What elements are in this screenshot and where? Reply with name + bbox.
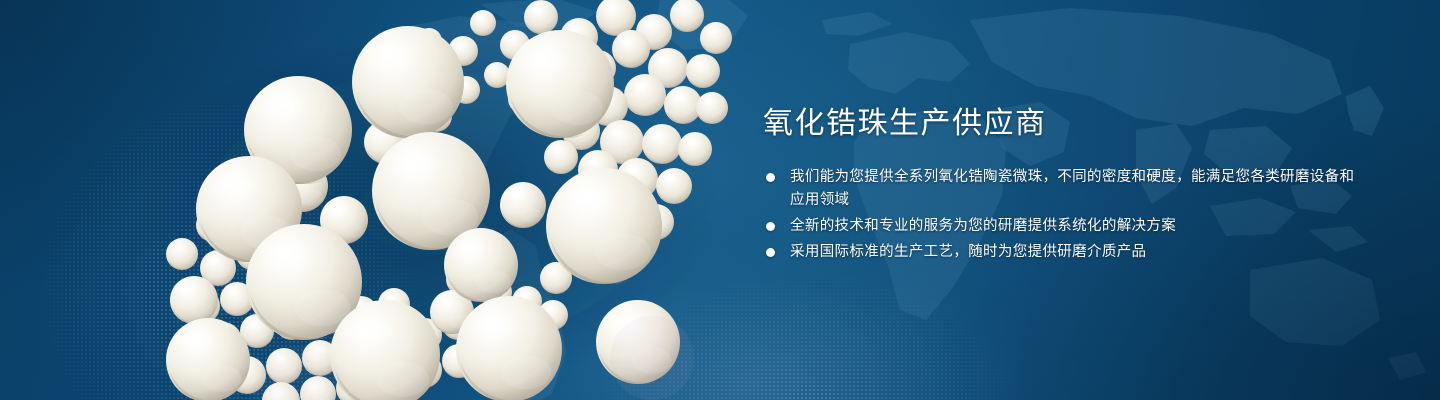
zirconia-beads-image (0, 0, 760, 400)
list-item: 采用国际标准的生产工艺，随时为您提供研磨介质产品 (763, 241, 1363, 264)
bullet-dot-icon (766, 173, 775, 182)
hero-banner: 氧化锆珠生产供应商 我们能为您提供全系列氧化锆陶瓷微珠，不同的密度和硬度，能满足… (0, 0, 1440, 400)
bullet-dot-icon (766, 248, 775, 257)
list-item-label: 采用国际标准的生产工艺，随时为您提供研磨介质产品 (790, 241, 1363, 264)
list-item-label: 我们能为您提供全系列氧化锆陶瓷微珠，不同的密度和硬度，能满足您各类研磨设备和应用… (790, 166, 1363, 212)
feature-list: 我们能为您提供全系列氧化锆陶瓷微珠，不同的密度和硬度，能满足您各类研磨设备和应用… (763, 166, 1363, 264)
bullet-dot-icon (766, 222, 775, 231)
banner-copy: 氧化锆珠生产供应商 我们能为您提供全系列氧化锆陶瓷微珠，不同的密度和硬度，能满足… (763, 104, 1363, 267)
list-item: 全新的技术和专业的服务为您的研磨提供系统化的解决方案 (763, 215, 1363, 238)
list-item: 我们能为您提供全系列氧化锆陶瓷微珠，不同的密度和硬度，能满足您各类研磨设备和应用… (763, 166, 1363, 212)
list-item-label: 全新的技术和专业的服务为您的研磨提供系统化的解决方案 (790, 215, 1363, 238)
page-title: 氧化锆珠生产供应商 (763, 104, 1363, 144)
